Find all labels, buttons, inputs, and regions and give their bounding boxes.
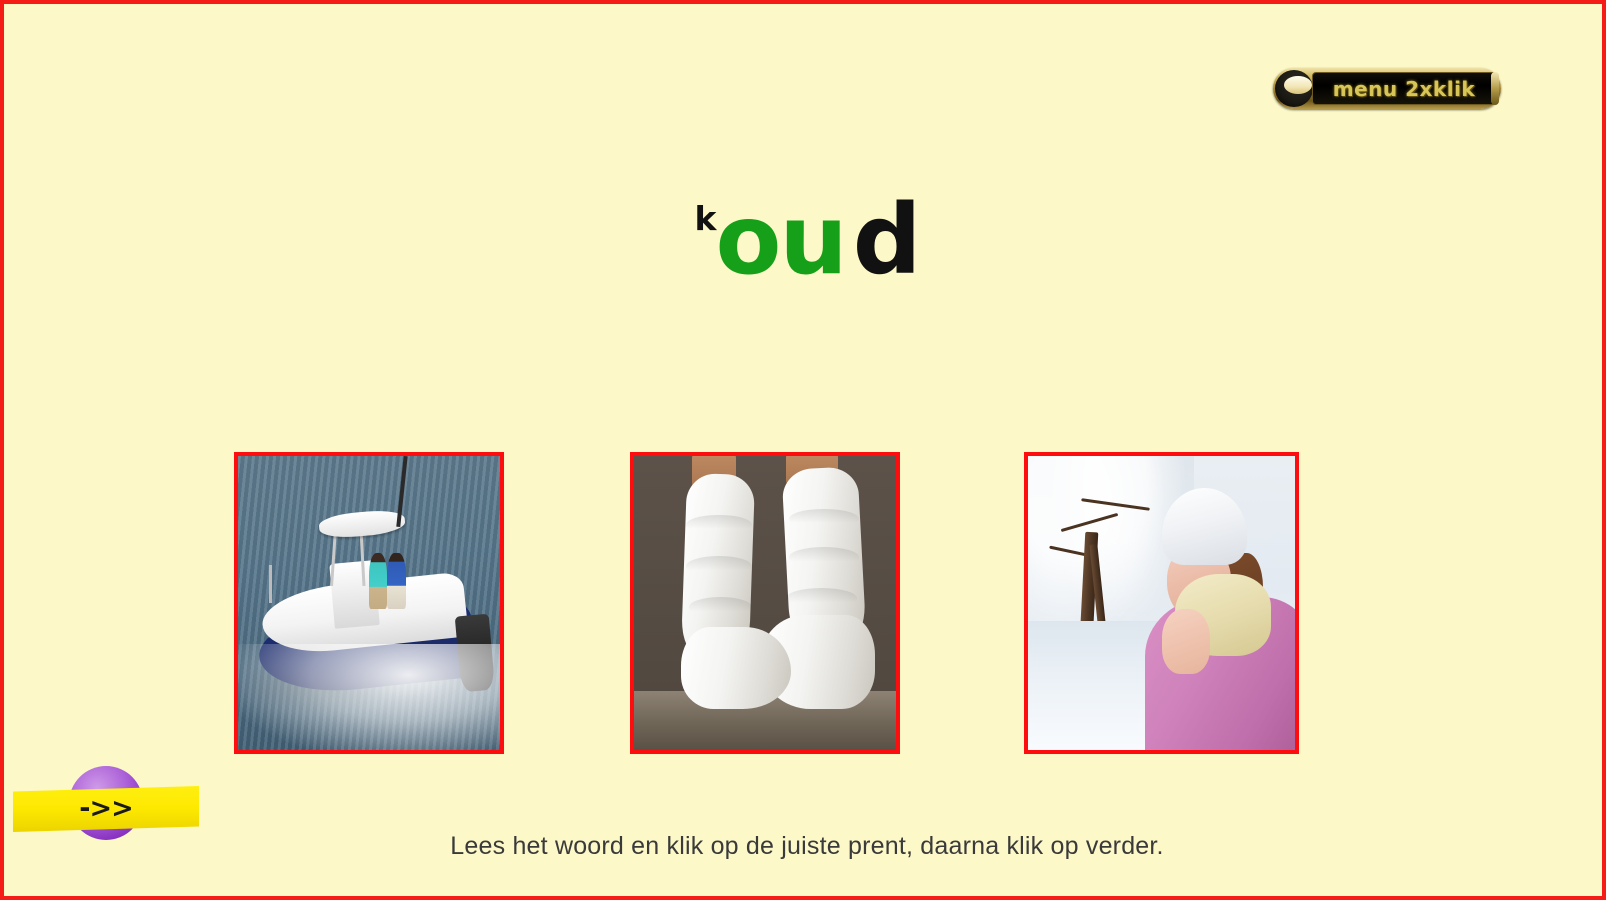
next-arrow-icon: ->> xyxy=(79,793,132,824)
picture-choice-cold-woman[interactable] xyxy=(1024,452,1299,754)
winter-image xyxy=(1028,456,1295,750)
boat-person xyxy=(387,553,405,609)
word-display: koud xyxy=(4,192,1606,288)
menu-end-cap-icon xyxy=(1491,72,1499,105)
menu-knob-icon xyxy=(1275,70,1313,107)
menu-button-screen: menu 2xklik xyxy=(1312,72,1496,105)
picture-choice-boat[interactable] xyxy=(234,452,504,754)
boat-rail xyxy=(269,565,272,603)
next-ribbon: ->> xyxy=(13,786,199,832)
boat-foam xyxy=(234,644,504,754)
menu-button[interactable]: menu 2xklik xyxy=(1273,68,1501,109)
sock-fold xyxy=(689,597,752,618)
boat-person xyxy=(369,553,387,609)
picture-choice-socks[interactable] xyxy=(630,452,900,754)
sock-fold xyxy=(686,556,752,577)
menu-button-label: menu 2xklik xyxy=(1333,77,1475,101)
woman-hands xyxy=(1162,609,1210,674)
word-suffix: d xyxy=(846,184,920,296)
sock-left-foot xyxy=(681,627,791,709)
instruction-text: Lees het woord en klik op de juiste pren… xyxy=(4,832,1606,861)
sock-fold xyxy=(789,547,860,568)
word-highlight: ou xyxy=(715,184,845,296)
socks-image xyxy=(634,456,896,750)
boat-image xyxy=(238,456,500,750)
next-button[interactable]: ->> xyxy=(13,766,199,842)
word-prefix: k xyxy=(695,199,716,238)
sock-fold xyxy=(786,588,857,609)
app-stage: menu 2xklik koud xyxy=(0,0,1606,900)
